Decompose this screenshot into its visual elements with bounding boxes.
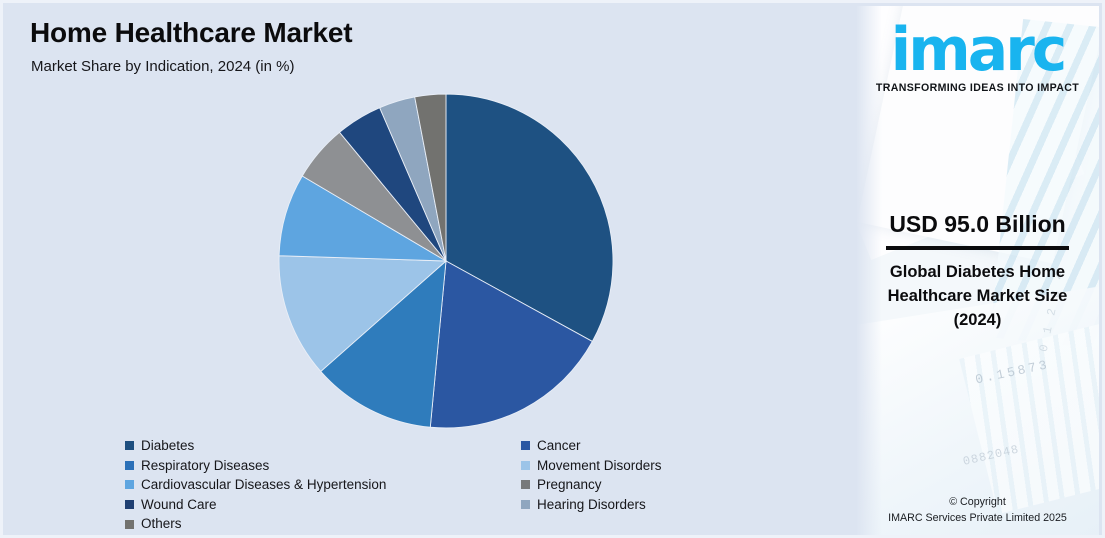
legend-item-movement-disorders[interactable]: Movement Disorders [521, 456, 745, 476]
legend-label: Cancer [537, 439, 581, 453]
background-texture-stripes [959, 318, 1099, 514]
legend-swatch-icon [521, 461, 530, 470]
legend-label: Cardiovascular Diseases & Hypertension [141, 478, 386, 492]
legend-item-diabetes[interactable]: Diabetes [125, 436, 521, 456]
background-texture-number-2: 0882048 [962, 417, 1099, 469]
copyright-line-1: © Copyright [856, 494, 1099, 510]
stat-description: Global Diabetes Home Healthcare Market S… [870, 261, 1085, 333]
pie-chart [278, 93, 614, 429]
page-title: Home Healthcare Market [30, 17, 352, 49]
legend-swatch-icon [125, 441, 134, 450]
chart-subtitle: Market Share by Indication, 2024 (in %) [31, 58, 294, 75]
legend-label: Others [141, 517, 182, 531]
stat-divider [886, 246, 1069, 250]
background-texture-number-1: 0.15873 [974, 344, 1099, 388]
legend-item-hearing-disorders[interactable]: Hearing Disorders [521, 495, 745, 515]
legend-label: Diabetes [141, 439, 194, 453]
logo-wordmark: imarc [856, 22, 1099, 79]
legend-item-cancer[interactable]: Cancer [521, 436, 745, 456]
legend-swatch-icon [125, 520, 134, 529]
legend-label: Wound Care [141, 498, 217, 512]
legend-swatch-icon [521, 480, 530, 489]
legend-item-wound-care[interactable]: Wound Care [125, 495, 521, 515]
copyright-notice: © Copyright IMARC Services Private Limit… [856, 494, 1099, 526]
legend-swatch-icon [125, 500, 134, 509]
infographic-canvas: Home Healthcare Market Market Share by I… [0, 0, 1105, 538]
legend-swatch-icon [521, 500, 530, 509]
pie-chart-svg [278, 93, 614, 429]
logo-tagline: TRANSFORMING IDEAS INTO IMPACT [856, 82, 1099, 94]
copyright-line-2: IMARC Services Private Limited 2025 [856, 510, 1099, 526]
legend-label: Movement Disorders [537, 459, 662, 473]
legend-item-pregnancy[interactable]: Pregnancy [521, 475, 745, 495]
legend-swatch-icon [521, 441, 530, 450]
legend-swatch-icon [125, 480, 134, 489]
legend-label: Hearing Disorders [537, 498, 646, 512]
brand-side-panel: 0.15873 0882048 0 1 2 3 4 imarc TRANSFOR… [856, 6, 1099, 538]
legend-swatch-icon [125, 461, 134, 470]
legend-label: Pregnancy [537, 478, 602, 492]
chart-legend: Diabetes Respiratory Diseases Cardiovasc… [125, 436, 745, 534]
pie-slice-group [279, 94, 613, 428]
imarc-logo[interactable]: imarc TRANSFORMING IDEAS INTO IMPACT [856, 22, 1099, 94]
legend-item-cardiovascular-diseases-hypertension[interactable]: Cardiovascular Diseases & Hypertension [125, 475, 521, 495]
legend-label: Respiratory Diseases [141, 459, 269, 473]
stat-value: USD 95.0 Billion [856, 211, 1099, 238]
legend-item-respiratory-diseases[interactable]: Respiratory Diseases [125, 456, 521, 476]
legend-item-others[interactable]: Others [125, 514, 521, 534]
